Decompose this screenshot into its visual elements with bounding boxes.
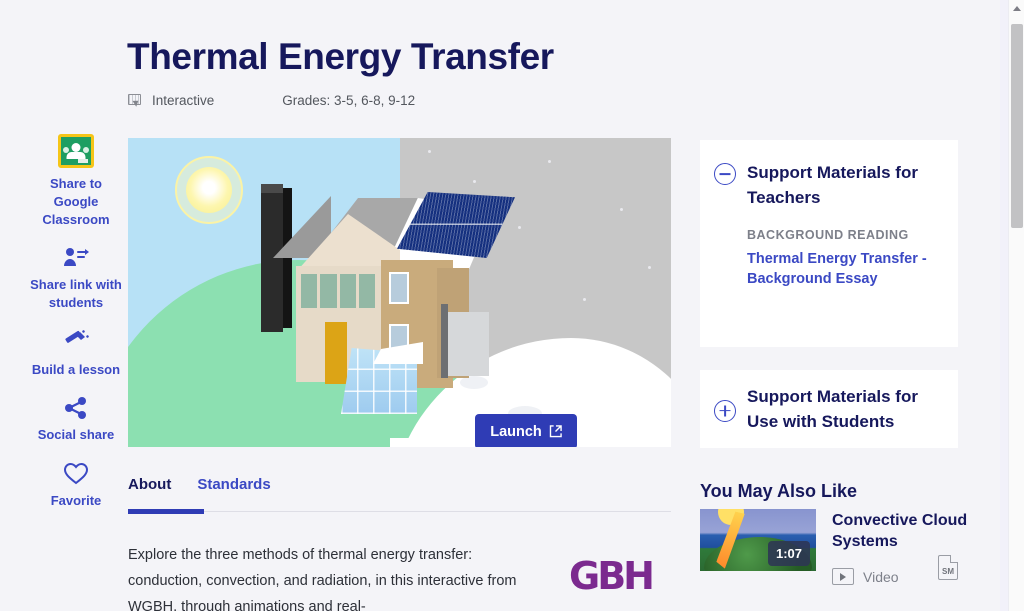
launch-button-label: Launch — [490, 424, 542, 440]
gbh-logo: GBH — [569, 554, 661, 596]
tab-active-indicator — [128, 509, 204, 514]
rail-item-share-to-google-classroom[interactable]: Share to Google Classroom — [28, 134, 124, 229]
support-teachers-title: Support Materials for Teachers — [747, 160, 940, 210]
interactive-icon — [128, 94, 142, 107]
rail-item-build-a-lesson[interactable]: Build a lesson — [28, 330, 124, 379]
minus-circle-icon[interactable] — [714, 163, 736, 185]
rail-item-social-share[interactable]: Social share — [28, 397, 124, 444]
resource-type-label: Interactive — [152, 93, 214, 108]
action-rail: Share to Google Classroom Share link wit… — [28, 134, 124, 528]
video-thumbnail[interactable]: 1:07 — [700, 509, 816, 571]
launch-button[interactable]: Launch — [475, 414, 577, 447]
background-essay-link[interactable]: Thermal Energy Transfer - Background Ess… — [747, 249, 940, 289]
build-lesson-icon — [63, 330, 89, 354]
heart-icon — [63, 462, 89, 485]
grades-label: Grades: 3-5, 6-8, 9-12 — [282, 93, 415, 108]
rail-label-share-link: Share link with students — [28, 276, 124, 312]
sun-icon — [186, 167, 232, 213]
page-title: Thermal Energy Transfer — [127, 36, 554, 78]
about-description: Explore the three methods of thermal ene… — [128, 542, 528, 611]
tab-underline — [128, 511, 671, 512]
resource-meta: Interactive Grades: 3-5, 6-8, 9-12 — [128, 93, 415, 108]
related-resource-type: Video — [863, 569, 899, 585]
related-resource-title[interactable]: Convective Cloud Systems — [832, 510, 972, 552]
google-classroom-icon — [58, 134, 94, 168]
share-person-icon — [63, 247, 89, 269]
external-link-icon — [549, 425, 562, 438]
rail-item-favorite[interactable]: Favorite — [28, 462, 124, 510]
house-illustration — [261, 176, 561, 426]
vertical-scrollbar[interactable] — [1008, 0, 1024, 611]
support-materials-students-card[interactable]: Support Materials for Use with Students — [700, 370, 958, 448]
rail-label-favorite: Favorite — [51, 492, 102, 510]
scrollbar-thumb[interactable] — [1011, 24, 1023, 228]
content-tabs: About Standards — [128, 476, 671, 502]
page-right-edge — [1000, 0, 1008, 611]
support-materials-doc-icon[interactable]: SM — [938, 555, 958, 580]
rail-item-share-link-with-students[interactable]: Share link with students — [28, 247, 124, 312]
rail-label-google-classroom: Share to Google Classroom — [28, 175, 124, 229]
rail-label-social-share: Social share — [38, 426, 115, 444]
page-root: Thermal Energy Transfer Interactive Grad… — [0, 0, 1024, 611]
social-share-icon — [64, 397, 88, 419]
you-may-also-like-heading: You May Also Like — [700, 481, 857, 502]
play-icon — [832, 568, 854, 585]
support-materials-teachers-card[interactable]: Support Materials for Teachers BACKGROUN… — [700, 140, 958, 347]
rail-label-build-lesson: Build a lesson — [32, 361, 120, 379]
tab-about[interactable]: About — [128, 476, 171, 502]
list-item[interactable]: 1:07 Convective Cloud Systems Video SM — [700, 509, 972, 585]
hero-image[interactable]: Launch — [128, 138, 671, 447]
tab-standards[interactable]: Standards — [197, 476, 270, 502]
caret-up-icon[interactable] — [1009, 0, 1024, 17]
plus-circle-icon[interactable] — [714, 400, 736, 422]
support-students-title: Support Materials for Use with Students — [747, 384, 940, 434]
background-reading-kicker: BACKGROUND READING — [747, 228, 940, 242]
video-duration-badge: 1:07 — [768, 541, 810, 566]
